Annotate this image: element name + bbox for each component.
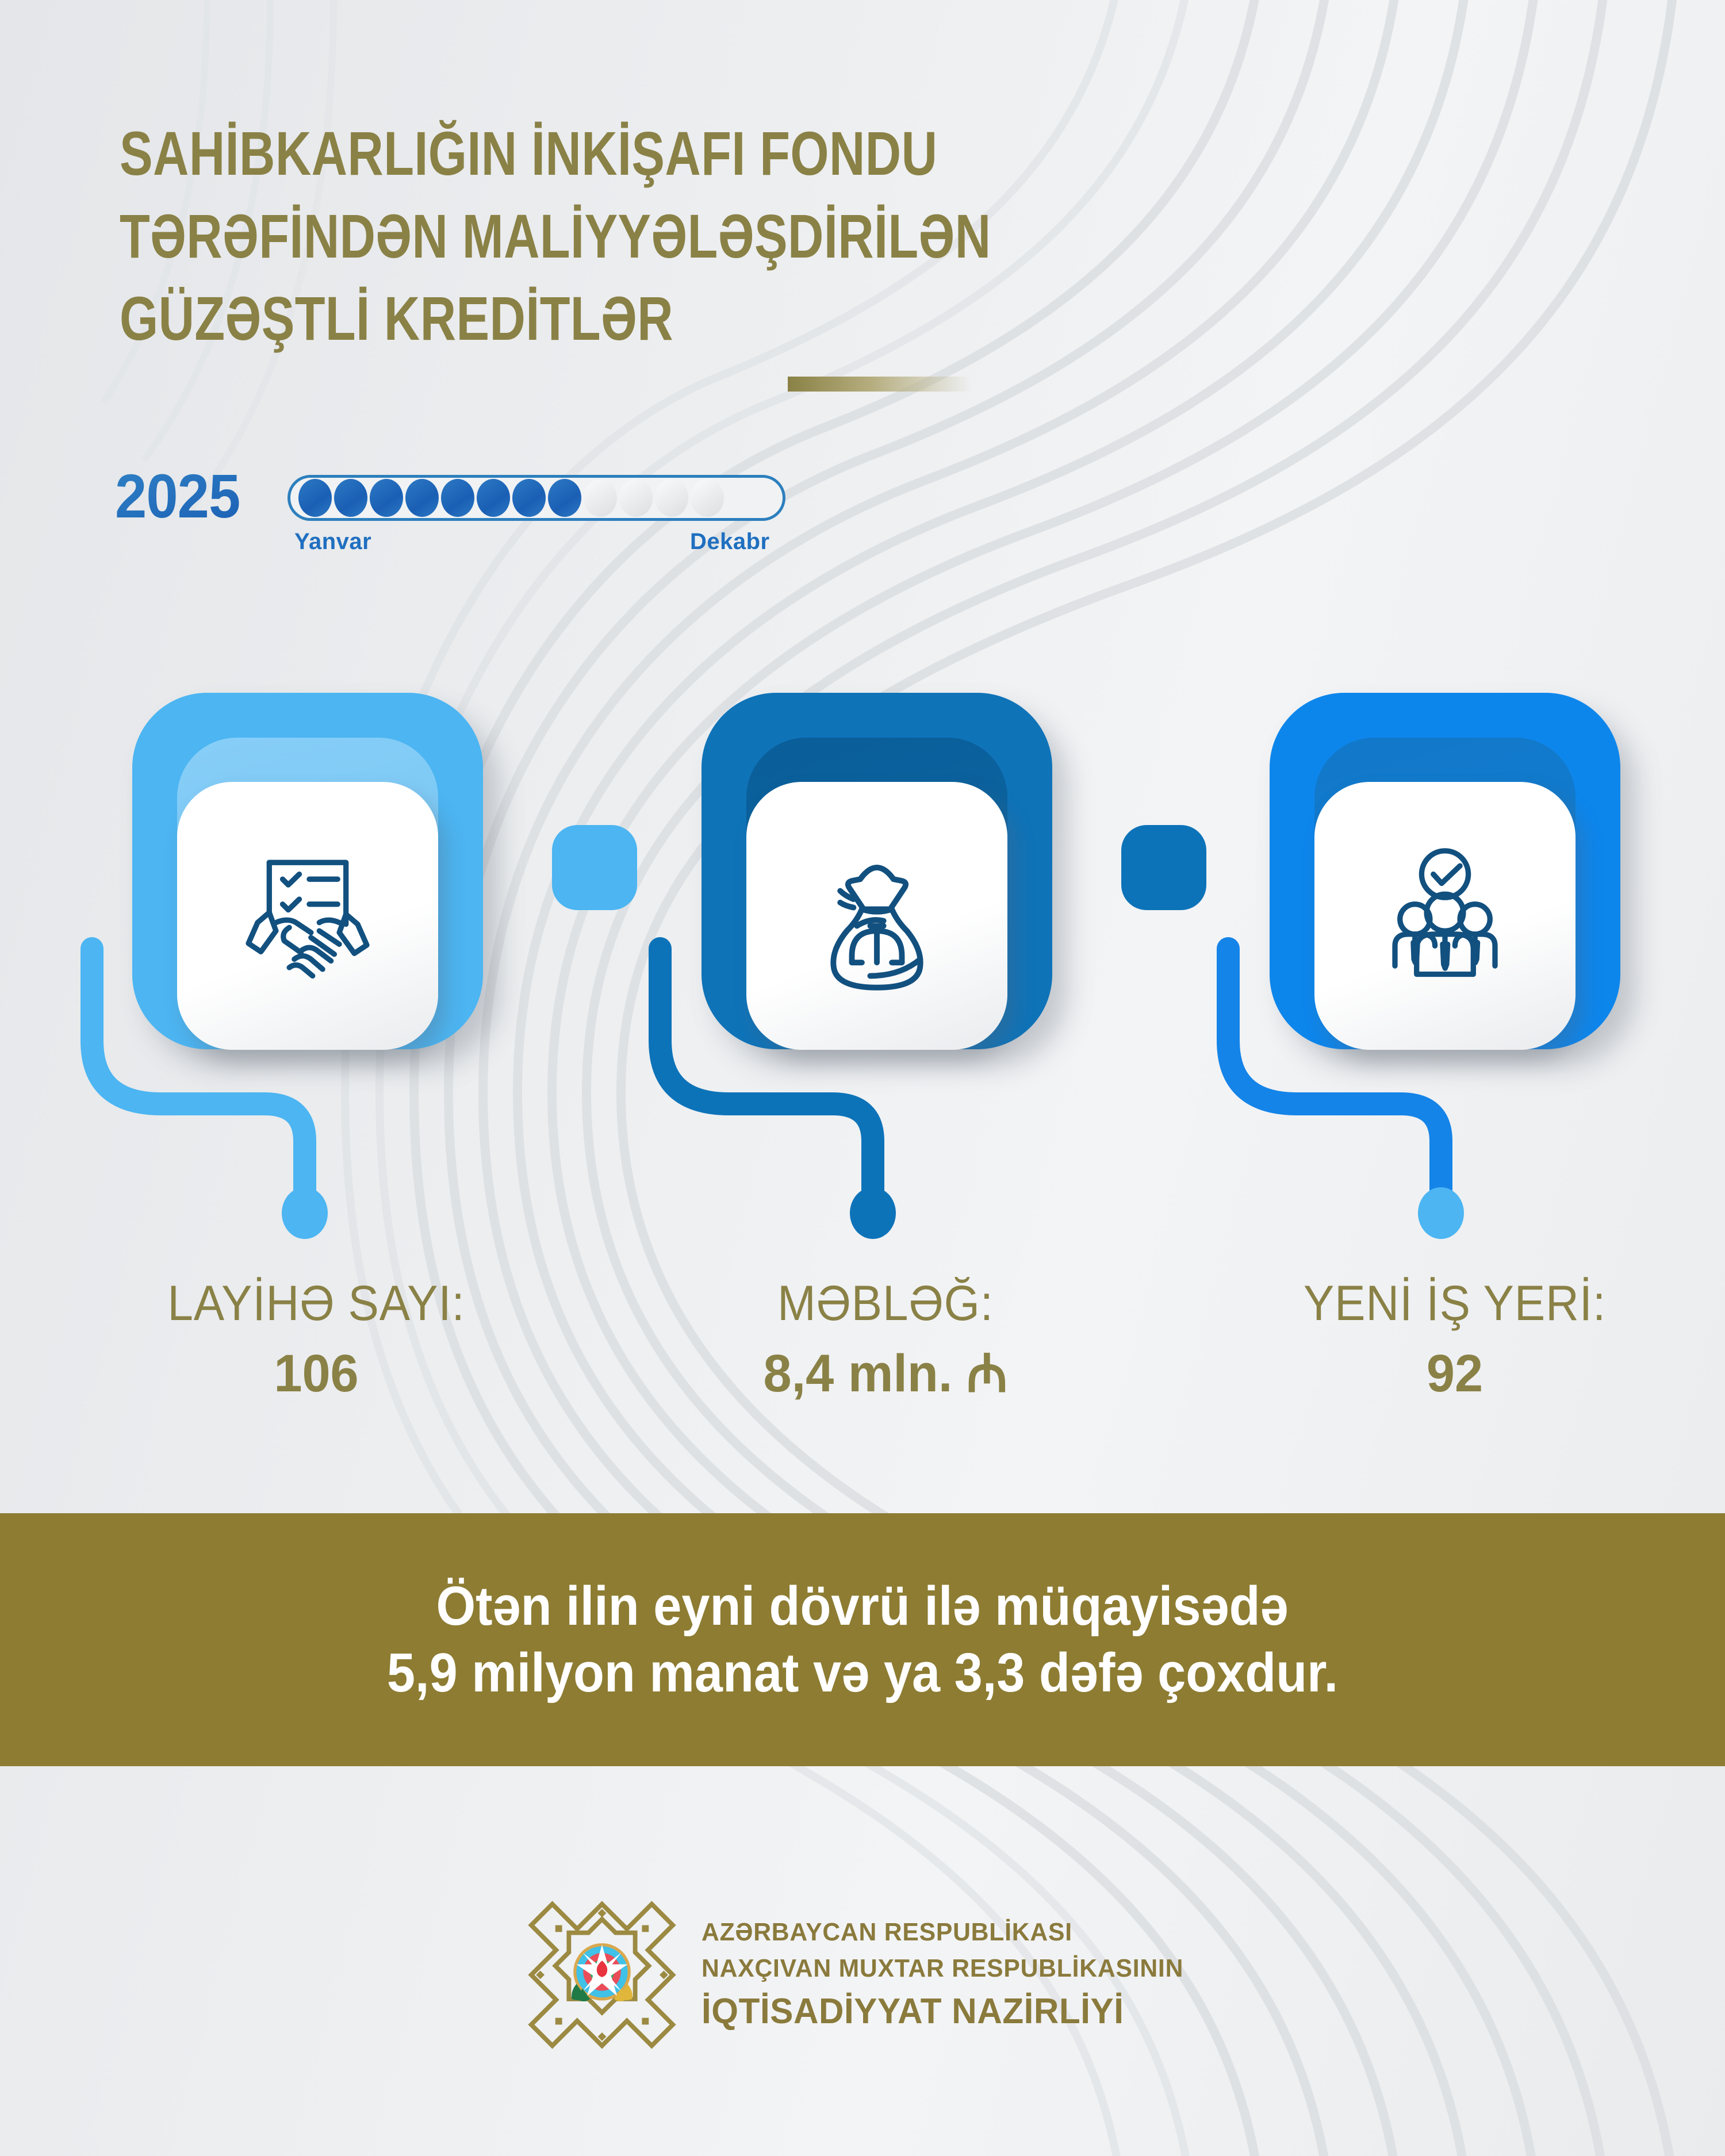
month-dot-empty: [691, 479, 724, 517]
month-dot-filled: [512, 479, 546, 517]
stat-value: 106: [68, 1345, 565, 1403]
card-separator-1: [552, 825, 637, 910]
month-dot-filled: [334, 479, 367, 517]
stat-card-layihe-sayi[interactable]: [132, 693, 483, 1049]
connector-dot-1: [282, 1187, 328, 1239]
month-dot-filled: [441, 479, 474, 517]
connector-dot-3: [1418, 1187, 1464, 1239]
month-dot-filled: [477, 479, 510, 517]
footer-line-2: NAXÇIVAN MUXTAR RESPUBLİKASININ: [701, 1951, 1183, 1986]
stat-card-meblegh[interactable]: [701, 693, 1052, 1049]
footer-text-block: AZƏRBAYCAN RESPUBLİKASI NAXÇIVAN MUXTAR …: [701, 1915, 1198, 2035]
footer-line-3: İQTİSADİYYAT NAZİRLİYİ: [701, 1989, 1183, 2035]
infographic-page: SAHİBKARLIĞIN İNKİŞAFI FONDU TƏRƏFİNDƏN …: [0, 0, 1725, 2156]
month-dot-filled: [298, 479, 332, 517]
stat-value: 92: [1206, 1345, 1703, 1403]
title-line-1: SAHİBKARLIĞIN İNKİŞAFI FONDU: [120, 112, 948, 195]
handshake-contract-icon: [224, 833, 391, 999]
period-start-label: Yanvar: [294, 529, 371, 555]
stat-label: YENİ İŞ YERİ:: [1214, 1276, 1696, 1331]
period-end-label: Dekabr: [690, 529, 770, 555]
title-line-2: TƏRƏFİNDƏN MALİYYƏLƏŞDİRİLƏN: [120, 195, 948, 278]
footer-branding: AZƏRBAYCAN RESPUBLİKASI NAXÇIVAN MUXTAR …: [0, 1880, 1725, 2070]
month-dot-empty: [584, 479, 617, 517]
connector-dot-2: [850, 1187, 896, 1239]
stat-card-yeni-is-yeri[interactable]: [1270, 693, 1620, 1049]
footer-line-1: AZƏRBAYCAN RESPUBLİKASI: [701, 1915, 1183, 1950]
emblem-svg: [527, 1900, 677, 2050]
page-title: SAHİBKARLIĞIN İNKİŞAFI FONDU TƏRƏFİNDƏN …: [120, 112, 948, 360]
month-dot-filled: [370, 479, 403, 517]
card-icon-plate: [746, 782, 1007, 1050]
stat-value: 8,4 mln. ₼: [637, 1345, 1134, 1403]
people-check-icon: [1362, 833, 1528, 999]
month-dot-empty: [655, 479, 688, 517]
banner-line-2: 5,9 milyon manat və ya 3,3 dəfə çoxdur.: [387, 1644, 1338, 1702]
month-dot-empty: [619, 479, 653, 517]
stat-block-layihe-sayi: LAYİHƏ SAYI: 106: [57, 1276, 575, 1403]
year-label: 2025: [115, 460, 240, 532]
comparison-banner: Ötən ilin eyni dövrü ilə müqayisədə 5,9 …: [0, 1513, 1725, 1766]
month-progress-bar[interactable]: [287, 475, 785, 521]
banner-line-1: Ötən ilin eyni dövrü ilə müqayisədə: [436, 1577, 1289, 1636]
stat-label: MƏBLƏĞ:: [645, 1276, 1126, 1331]
azerbaijan-state-emblem-icon: [527, 1900, 677, 2050]
month-dot-filled: [405, 479, 439, 517]
stat-block-yeni-is-yeri: YENİ İŞ YERİ: 92: [1196, 1276, 1713, 1403]
card-icon-plate: [1314, 782, 1575, 1050]
money-bag-manat-icon: [793, 833, 960, 999]
title-accent-dash: [788, 377, 972, 392]
card-separator-2: [1121, 825, 1206, 910]
title-line-3: GÜZƏŞTLİ KREDİTLƏR: [120, 277, 948, 360]
stat-block-meblegh: MƏBLƏĞ: 8,4 mln. ₼: [627, 1276, 1144, 1403]
month-dot-filled: [548, 479, 581, 517]
stat-label: LAYİHƏ SAYI:: [76, 1276, 557, 1331]
card-icon-plate: [177, 782, 438, 1050]
